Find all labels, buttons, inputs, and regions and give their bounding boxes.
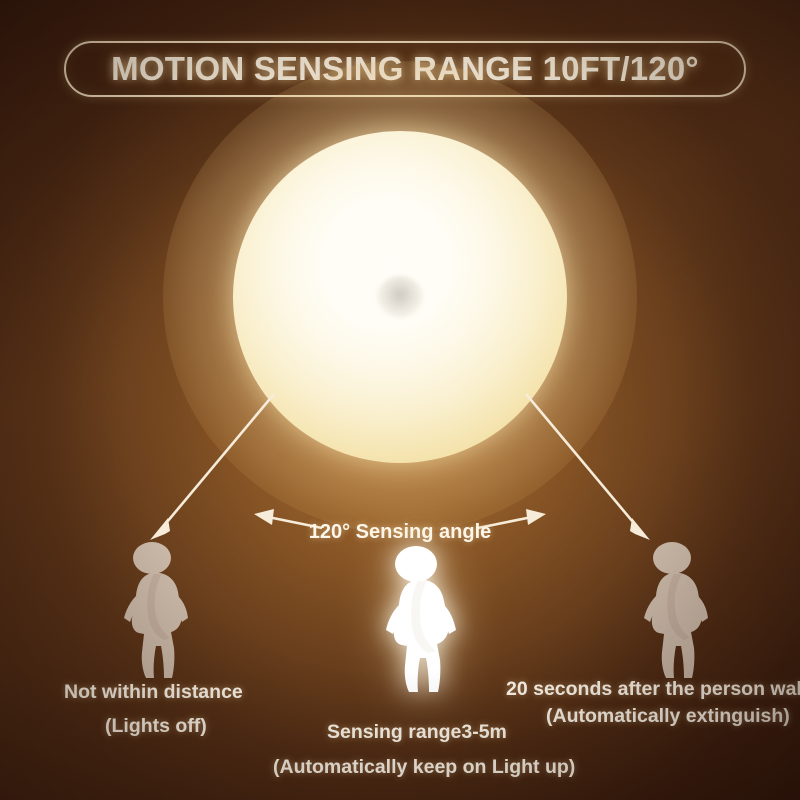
caption-center-primary: Sensing range3-5m <box>327 721 507 744</box>
caption-center-secondary: (Automatically keep on Light up) <box>273 756 575 779</box>
infographic-canvas: MOTION SENSING RANGE 10FT/120° 120° Sens… <box>0 0 800 800</box>
motion-sensor-light <box>233 131 567 463</box>
caption-right-primary: 20 seconds after the person walks <box>506 678 800 701</box>
motion-sensor-dot-icon <box>377 276 423 318</box>
person-figure-center-lit <box>368 545 472 693</box>
person-figure-right-dim <box>628 540 724 680</box>
caption-right-secondary: (Automatically extinguish) <box>546 705 790 728</box>
caption-left-secondary: (Lights off) <box>105 715 207 738</box>
caption-left-primary: Not within distance <box>64 681 243 704</box>
person-figure-left-dim <box>108 540 204 680</box>
